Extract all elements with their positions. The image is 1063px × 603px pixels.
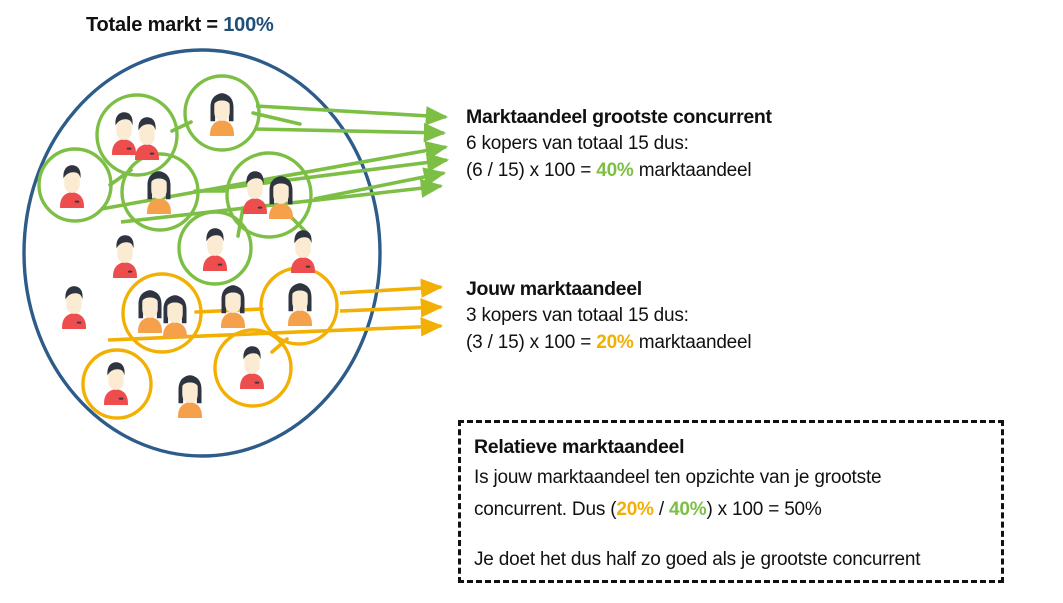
relative-spacer: [474, 526, 1001, 544]
your-market-share-block: Jouw marktaandeel 3 kopers van totaal 15…: [466, 276, 751, 356]
competitor-formula-post: marktaandeel: [634, 160, 752, 181]
your-heading: Jouw marktaandeel: [466, 276, 751, 302]
person-collar: [255, 382, 260, 384]
person-collar: [128, 271, 133, 273]
page-title: Totale markt = 100%: [86, 14, 274, 37]
relative-line-1: Is jouw marktaandeel ten opzichte van je…: [474, 462, 1001, 494]
person-icon-female: [178, 375, 202, 418]
your-formula-pre: (3 / 15) x 100 =: [466, 332, 596, 353]
your-share-value: 20%: [596, 332, 633, 353]
competitor-share-value: 40%: [596, 160, 633, 181]
person-collar: [218, 264, 223, 266]
person-icon-female: [221, 285, 245, 328]
person-icon-female: [163, 295, 187, 338]
relative-market-share-box: Relatieve marktaandeel Is jouw marktaand…: [458, 420, 1004, 583]
your-line-2: (3 / 15) x 100 = 20% marktaandeel: [466, 329, 751, 356]
person-collar: [150, 153, 155, 155]
competitor-line-1: 6 kopers van totaal 15 dus:: [466, 130, 772, 157]
your-formula-post: marktaandeel: [634, 332, 752, 353]
competitor-market-share-block: Marktaandeel grootste concurrent 6 koper…: [466, 104, 772, 184]
relative-your-value: 20%: [616, 499, 653, 520]
person-collar: [77, 322, 82, 324]
competitor-formula-pre: (6 / 15) x 100 =: [466, 160, 596, 181]
person-collar: [127, 148, 132, 150]
your-line-1: 3 kopers van totaal 15 dus:: [466, 302, 751, 329]
relative-formula-mid: /: [654, 499, 669, 520]
relative-line-2: concurrent. Dus (20% / 40%) x 100 = 50%: [474, 494, 1001, 526]
person-collar: [119, 398, 124, 400]
competitor-heading: Marktaandeel grootste concurrent: [466, 104, 772, 130]
person-icon-female: [288, 283, 312, 326]
title-percent: 100%: [223, 14, 273, 36]
title-prefix: Totale markt =: [86, 14, 223, 36]
relative-line-3: Je doet het dus half zo goed als je groo…: [474, 544, 1001, 576]
diagram-canvas: Totale markt = 100% Marktaandeel grootst…: [0, 0, 1063, 603]
person-collar: [75, 201, 80, 203]
relative-heading: Relatieve marktaandeel: [474, 433, 1001, 462]
relative-formula-pre: concurrent. Dus (: [474, 499, 616, 520]
person-collar: [258, 207, 263, 209]
competitor-line-2: (6 / 15) x 100 = 40% marktaandeel: [466, 157, 772, 184]
person-icon-female: [147, 171, 171, 214]
person-icon-female: [269, 176, 293, 219]
relative-competitor-value: 40%: [669, 499, 706, 520]
relative-formula-post: ) x 100 = 50%: [706, 499, 821, 520]
person-icon-female: [138, 290, 162, 333]
person-icon-female: [210, 93, 234, 136]
person-collar: [306, 266, 311, 268]
